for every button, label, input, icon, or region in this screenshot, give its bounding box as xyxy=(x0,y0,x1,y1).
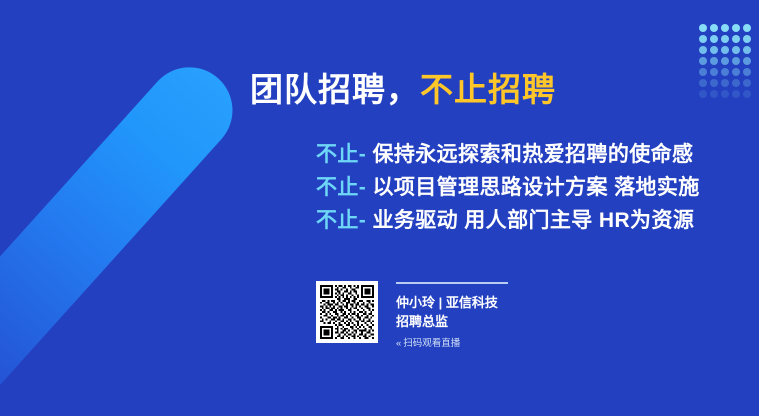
speaker-role: 招聘总监 xyxy=(396,312,508,331)
bullet-lead-3: 不止- xyxy=(316,209,366,232)
grid-dot xyxy=(699,35,707,43)
grid-dot-cell xyxy=(710,57,721,68)
grid-dot xyxy=(743,24,751,32)
grid-dot xyxy=(710,46,718,54)
poster-canvas: 团队招聘，不止招聘 不止- 保持永远探索和热爱招聘的使命感 不止- 以项目管理思… xyxy=(0,0,759,416)
grid-dot xyxy=(710,68,718,76)
grid-dot-cell xyxy=(732,90,743,101)
bullet-item-2: 不止- 以项目管理思路设计方案 落地实施 xyxy=(316,171,700,204)
grid-dot-cell xyxy=(732,68,743,79)
grid-dot xyxy=(721,79,729,87)
grid-dot-cell xyxy=(732,24,743,35)
grid-dot xyxy=(743,57,751,65)
grid-dot-cell xyxy=(732,46,743,57)
grid-dot xyxy=(721,57,729,65)
grid-dot-cell xyxy=(710,68,721,79)
grid-dot xyxy=(699,90,707,98)
speaker-name: 仲小玲 | 亚信科技 xyxy=(396,293,508,312)
grid-dot-cell xyxy=(743,57,754,68)
grid-dot xyxy=(721,68,729,76)
grid-dot xyxy=(699,68,707,76)
headline-primary: 团队招聘， xyxy=(250,71,420,108)
grid-dot-cell xyxy=(699,24,710,35)
grid-dot-cell xyxy=(721,79,732,90)
grid-dot xyxy=(743,90,751,98)
qr-code-svg xyxy=(320,285,374,339)
grid-dot-cell xyxy=(710,79,721,90)
grid-dot-cell xyxy=(732,79,743,90)
grid-dot xyxy=(732,57,740,65)
signature-text: 仲小玲 | 亚信科技 招聘总监 «扫码观看直播 xyxy=(396,281,508,352)
dot-grid-decoration xyxy=(699,24,759,110)
bullet-lead-1: 不止- xyxy=(316,143,366,166)
diagonal-slash-decoration xyxy=(0,60,280,416)
grid-dot xyxy=(699,24,707,32)
grid-dot-cell xyxy=(721,46,732,57)
grid-dot-cell xyxy=(743,90,754,101)
grid-dot xyxy=(732,46,740,54)
grid-dot xyxy=(743,35,751,43)
grid-dot xyxy=(710,35,718,43)
bullet-item-1: 不止- 保持永远探索和热爱招聘的使命感 xyxy=(316,138,700,171)
signature-divider xyxy=(396,282,508,284)
grid-dot-cell xyxy=(721,68,732,79)
bullet-lead-2: 不止- xyxy=(316,176,366,199)
grid-dot-cell xyxy=(721,57,732,68)
grid-dot xyxy=(721,90,729,98)
grid-dot xyxy=(710,79,718,87)
grid-dot xyxy=(732,68,740,76)
grid-dot xyxy=(732,24,740,32)
grid-dot-cell xyxy=(732,57,743,68)
grid-dot xyxy=(721,46,729,54)
grid-dot-cell xyxy=(721,24,732,35)
grid-dot-cell xyxy=(710,35,721,46)
grid-dot-cell xyxy=(743,79,754,90)
grid-dot xyxy=(710,90,718,98)
grid-dot xyxy=(732,79,740,87)
signature-block: 仲小玲 | 亚信科技 招聘总监 «扫码观看直播 xyxy=(316,281,508,352)
bullet-body-3: 业务驱动 用人部门主导 HR为资源 xyxy=(372,209,694,232)
double-chevron-left-icon: « xyxy=(396,338,400,349)
grid-dot xyxy=(721,35,729,43)
headline: 团队招聘，不止招聘 xyxy=(250,70,556,110)
grid-dot-cell xyxy=(743,68,754,79)
grid-dot-cell xyxy=(710,46,721,57)
headline-highlight: 不止招聘 xyxy=(420,71,556,108)
grid-dot-cell xyxy=(721,90,732,101)
grid-dot xyxy=(732,35,740,43)
bullet-body-2: 以项目管理思路设计方案 落地实施 xyxy=(372,176,699,199)
grid-dot-cell xyxy=(699,90,710,101)
grid-dot-cell xyxy=(743,24,754,35)
grid-dot xyxy=(743,46,751,54)
bullet-list: 不止- 保持永远探索和热爱招聘的使命感 不止- 以项目管理思路设计方案 落地实施… xyxy=(316,138,700,237)
qr-code-image[interactable] xyxy=(316,281,378,343)
grid-dot-cell xyxy=(710,90,721,101)
grid-dot-cell xyxy=(732,35,743,46)
grid-dot xyxy=(732,90,740,98)
grid-dot xyxy=(699,79,707,87)
bullet-item-3: 不止- 业务驱动 用人部门主导 HR为资源 xyxy=(316,204,700,237)
grid-dot-cell xyxy=(699,46,710,57)
grid-dot-cell xyxy=(721,35,732,46)
grid-dot xyxy=(721,24,729,32)
diagonal-slash-shape xyxy=(0,50,250,416)
grid-dot xyxy=(743,79,751,87)
grid-dot-cell xyxy=(699,35,710,46)
grid-dot xyxy=(699,46,707,54)
grid-dot xyxy=(710,24,718,32)
grid-dot-cell xyxy=(743,35,754,46)
grid-dot-cell xyxy=(743,46,754,57)
scan-cta-label: 扫码观看直播 xyxy=(403,338,460,349)
grid-dot xyxy=(699,57,707,65)
grid-dot-cell xyxy=(699,57,710,68)
grid-dot-cell xyxy=(710,24,721,35)
grid-dot xyxy=(743,68,751,76)
grid-dot-cell xyxy=(699,79,710,90)
grid-dot xyxy=(710,57,718,65)
grid-dot-cell xyxy=(699,68,710,79)
bullet-body-1: 保持永远探索和热爱招聘的使命感 xyxy=(372,143,693,166)
scan-cta: «扫码观看直播 xyxy=(396,336,508,352)
